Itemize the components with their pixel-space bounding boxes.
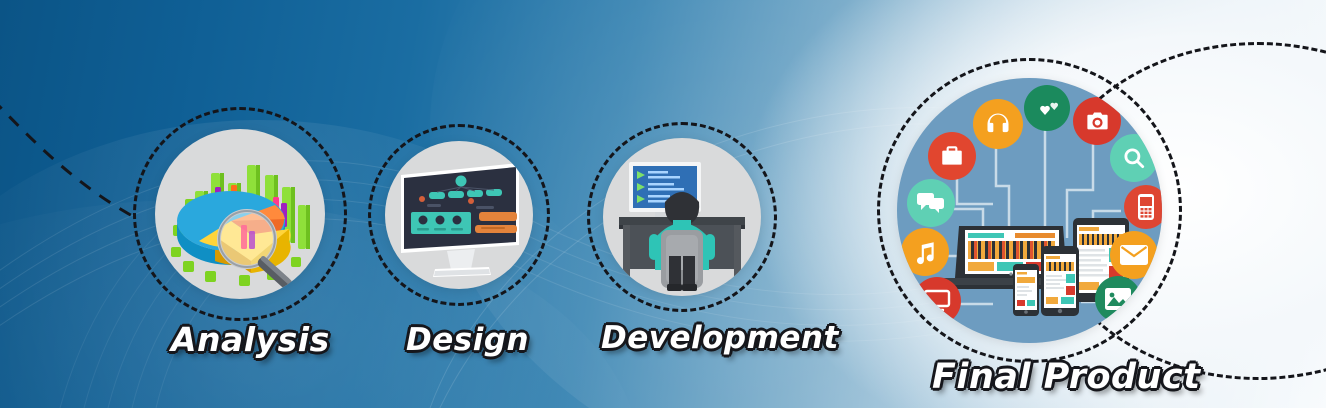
stage-label-analysis: Analysis	[171, 320, 330, 359]
stage-label-development: Development	[601, 320, 839, 356]
briefcase-icon[interactable]	[928, 132, 976, 180]
stage-label-design: Design	[406, 322, 529, 358]
stage-icon-final-product[interactable]	[897, 78, 1162, 343]
stage-icon-analysis[interactable]	[155, 129, 325, 299]
music-icon[interactable]	[901, 228, 949, 276]
mobile-icon[interactable]	[1124, 185, 1162, 229]
camera-icon[interactable]	[1073, 97, 1121, 145]
cloud-heart-icon[interactable]	[1024, 85, 1070, 131]
stage-icon-development[interactable]	[603, 138, 761, 296]
monitor-icon[interactable]	[913, 277, 961, 325]
developer-at-desk-icon	[603, 138, 761, 296]
pie-chart-bar-graph-magnifier-icon	[155, 129, 325, 299]
search-icon[interactable]	[1110, 134, 1158, 182]
chat-icon[interactable]	[907, 179, 955, 227]
stage-icon-design[interactable]	[385, 141, 533, 289]
process-banner: Analysis	[0, 0, 1326, 408]
headphones-icon[interactable]	[973, 99, 1023, 149]
desktop-monitor-wireframe-icon	[385, 141, 533, 289]
photo-icon[interactable]	[1095, 276, 1141, 322]
stage-label-final-product: Final Product	[932, 357, 1200, 397]
envelope-icon[interactable]	[1110, 231, 1158, 279]
